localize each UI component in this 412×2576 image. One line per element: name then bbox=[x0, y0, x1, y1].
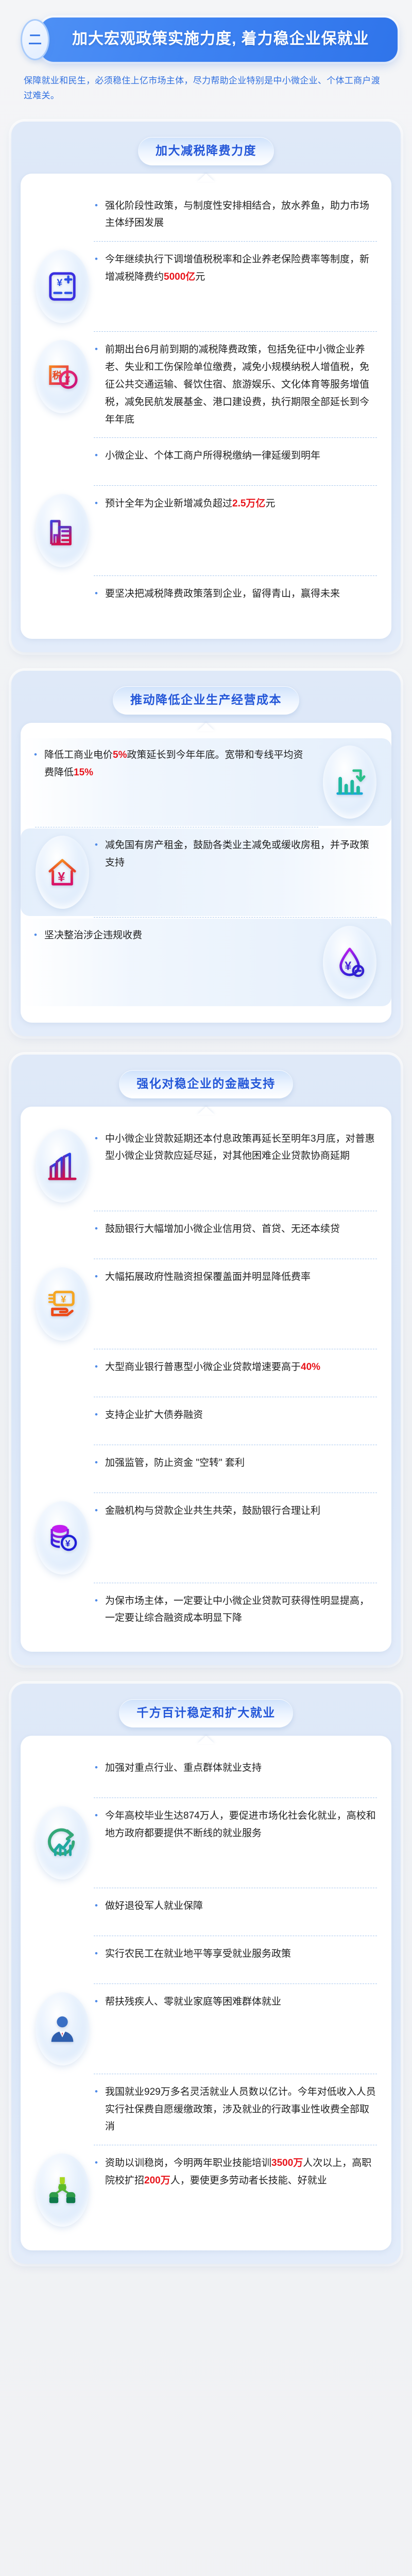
policy-item-text: 降低工商业电价5%政策延长到今年年底。宽带和专线平均资费降低15% bbox=[42, 745, 312, 783]
page-title: 加大宏观政策实施力度, 着力稳企业保就业 bbox=[72, 29, 384, 49]
item-divider bbox=[94, 1936, 377, 1936]
policy-item-text: 做好退役军人就业保障 bbox=[103, 1896, 380, 1916]
item-icon-slot bbox=[32, 1944, 93, 1975]
policy-item: 小微企业、个体工商户所得税缴纳一律延缓到明年 bbox=[32, 439, 380, 484]
item-icon-slot: 税 ¥ bbox=[32, 340, 93, 413]
section-number-badge: 二 bbox=[21, 19, 49, 60]
item-divider bbox=[94, 1984, 377, 1984]
policy-item: 中小微企业贷款延期还本付息政策再延长至明年3月底，对普惠型小微企业贷款应延尽延，… bbox=[32, 1122, 380, 1210]
item-divider bbox=[94, 437, 377, 438]
svg-text:¥: ¥ bbox=[61, 1294, 66, 1304]
item-divider bbox=[94, 575, 377, 576]
item-icon-slot: ¥ bbox=[32, 836, 93, 909]
policy-item-text: 要坚决把减税降费政策落到企业，留得青山，赢得未来 bbox=[103, 584, 380, 604]
item-divider bbox=[94, 1888, 377, 1888]
page-header: 二 加大宏观政策实施力度, 着力稳企业保就业 bbox=[21, 18, 398, 62]
policy-item: ¥ 金融机构与贷款企业共生共荣，鼓励银行合理让利 bbox=[32, 1494, 380, 1582]
item-icon-slot: ¥ bbox=[32, 1267, 93, 1341]
policy-item-text: 我国就业929万多名灵活就业人员数以亿计。今年对低收入人员实行社保费自愿缓缴政策… bbox=[103, 2082, 380, 2137]
section-content-card: 强化阶段性政策，与制度性安排相结合，放水养鱼，助力市场主体纾困发展 ¥ 今年继续… bbox=[21, 174, 391, 639]
policy-item: 做好退役军人就业保障 bbox=[32, 1889, 380, 1935]
item-icon-slot bbox=[32, 1358, 93, 1388]
policy-item-text: 今年继续执行下调增值税税率和企业养老保险费率等制度，新增减税降费约5000亿元 bbox=[103, 250, 380, 287]
policy-item: 帮扶残疾人、零就业家庭等困难群体就业 bbox=[32, 1985, 380, 2073]
sections-container: 加大减税降费力度强化阶段性政策，与制度性安排相结合，放水养鱼，助力市场主体纾困发… bbox=[0, 122, 412, 2264]
item-icon-slot bbox=[32, 584, 93, 615]
policy-section-stabilize-employment: 千方百计稳定和扩大就业加强对重点行业、重点群体就业支持 今年高校毕业生达874万… bbox=[11, 1684, 401, 2264]
item-icon-slot: ¥ bbox=[32, 1501, 93, 1574]
svg-text:¥: ¥ bbox=[65, 375, 71, 385]
policy-item-text: 鼓励银行大幅增加小微企业信用贷、首贷、无还本续贷 bbox=[103, 1219, 380, 1239]
city-buildings-icon bbox=[36, 1129, 89, 1202]
policy-item: ¥ 今年继续执行下调增值税税率和企业养老保险费率等制度，新增减税降费约5000亿… bbox=[32, 243, 380, 330]
item-icon-slot bbox=[32, 1219, 93, 1250]
policy-item-text: 大幅拓展政府性融资担保覆盖面并明显降低费率 bbox=[103, 1267, 380, 1287]
policy-item: 加强监管，防止资金 "空转" 套利 bbox=[32, 1446, 380, 1492]
svg-text:¥: ¥ bbox=[57, 277, 62, 289]
section-title-text: 千方百计稳定和扩大就业 bbox=[136, 1706, 276, 1720]
section-title-pill: 强化对稳企业的金融支持 bbox=[119, 1070, 293, 1098]
item-divider bbox=[94, 1397, 377, 1397]
policy-item-text: 前期出台6月前到期的减税降费政策，包括免征中小微企业养老、失业和工伤保险单位缴费… bbox=[103, 340, 380, 429]
item-icon-slot bbox=[32, 2082, 93, 2113]
bar-chart-down-icon bbox=[323, 745, 376, 819]
droplet-yen-minus-icon: ¥ bbox=[323, 926, 376, 999]
policy-section-financial-support: 强化对稳企业的金融支持 中小微企业贷款延期还本付息政策再延长至明年3月底，对普惠… bbox=[11, 1055, 401, 1665]
policy-item: 要坚决把减税降费政策落到企业，留得青山，赢得未来 bbox=[32, 577, 380, 622]
policy-item: 强化阶段性政策，与制度性安排相结合，放水养鱼，助力市场主体纾困发展 bbox=[32, 189, 380, 241]
svg-text:¥: ¥ bbox=[345, 959, 351, 972]
policy-item-text: 小微企业、个体工商户所得税缴纳一律延缓到明年 bbox=[103, 446, 380, 466]
card-pointer-arrow bbox=[197, 1736, 215, 1744]
policy-item-text: 强化阶段性政策，与制度性安排相结合，放水养鱼，助力市场主体纾困发展 bbox=[103, 196, 380, 233]
card-pointer-arrow bbox=[197, 1107, 215, 1115]
page-subtitle: 保障就业和民生，必须稳住上亿市场主体，尽力帮助企业特别是中小微企业、个体工商户渡… bbox=[24, 73, 383, 103]
policy-item: 为保市场主体，一定要让中小微企业贷款可获得性明显提高，一定要让综合融资成本明显下… bbox=[32, 1584, 380, 1636]
card-pointer-arrow bbox=[197, 723, 215, 731]
item-divider bbox=[35, 827, 318, 827]
item-icon-slot bbox=[32, 1591, 93, 1622]
item-icon-slot bbox=[32, 446, 93, 477]
policy-section-lower-operating-cost: 推动降低企业生产经营成本 降低工商业电价5%政策延长到今年年底。宽带和专线平均资… bbox=[11, 671, 401, 1036]
item-divider bbox=[94, 1493, 377, 1493]
item-divider bbox=[94, 2074, 377, 2074]
section-number-text: 二 bbox=[28, 33, 42, 46]
policy-item: 降低工商业电价5%政策延长到今年年底。宽带和专线平均资费降低15% bbox=[32, 738, 380, 826]
policy-item-text: 加强对重点行业、重点群体就业支持 bbox=[103, 1758, 380, 1778]
policy-item-text: 大型商业银行普惠型小微企业贷款增速要高于40% bbox=[103, 1358, 380, 1377]
item-icon-slot bbox=[32, 196, 93, 227]
item-icon-slot: ¥ bbox=[32, 250, 93, 323]
item-divider bbox=[94, 1349, 377, 1349]
policy-item-text: 实行农民工在就业地平等享受就业服务政策 bbox=[103, 1944, 380, 1964]
section-content-card: 降低工商业电价5%政策延长到今年年底。宽带和专线平均资费降低15% ¥ 减免国有… bbox=[21, 723, 391, 1023]
section-title-text: 强化对稳企业的金融支持 bbox=[136, 1077, 276, 1091]
item-icon-slot bbox=[32, 1758, 93, 1789]
calculator-yen-icon: ¥ bbox=[36, 250, 89, 323]
coins-yen-icon: ¥ bbox=[36, 1501, 89, 1574]
policy-item: 加强对重点行业、重点群体就业支持 bbox=[32, 1751, 380, 1797]
policy-item-text: 中小微企业贷款延期还本付息政策再延长至明年3月底，对普惠型小微企业贷款应延尽延，… bbox=[103, 1129, 380, 1166]
policy-item: ¥ 坚决整治涉企违规收费 bbox=[32, 919, 380, 1006]
section-content-card: 加强对重点行业、重点群体就业支持 今年高校毕业生达874万人，要促进市场化社会化… bbox=[21, 1736, 391, 2250]
header-banner: 加大宏观政策实施力度, 着力稳企业保就业 bbox=[40, 18, 398, 62]
item-icon-slot: ¥ bbox=[319, 926, 380, 999]
item-icon-slot bbox=[32, 1896, 93, 1927]
policy-item: 大型商业银行普惠型小微企业贷款增速要高于40% bbox=[32, 1350, 380, 1396]
item-divider bbox=[94, 241, 377, 242]
item-icon-slot bbox=[32, 1405, 93, 1436]
item-icon-slot bbox=[32, 1806, 93, 1879]
item-divider bbox=[94, 2145, 377, 2145]
item-icon-slot bbox=[32, 1992, 93, 2065]
policy-item: 支持企业扩大债券融资 bbox=[32, 1398, 380, 1444]
policy-item-text: 帮扶残疾人、零就业家庭等困难群体就业 bbox=[103, 1992, 380, 2012]
item-divider bbox=[94, 1211, 377, 1211]
growth-arrow-chart-icon bbox=[36, 1806, 89, 1879]
policy-item-text: 坚决整治涉企违规收费 bbox=[42, 926, 312, 945]
policy-item: 鼓励银行大幅增加小微企业信用贷、首贷、无还本续贷 bbox=[32, 1212, 380, 1258]
building-chart-icon bbox=[36, 494, 89, 567]
worker-person-icon bbox=[36, 1992, 89, 2065]
infographic-page: 二 加大宏观政策实施力度, 着力稳企业保就业 保障就业和民生，必须稳住上亿市场主… bbox=[0, 0, 412, 2576]
policy-item: 资助以训稳岗，今明两年职业技能培训3500万人次以上，高职院校扩招200万人，要… bbox=[32, 2146, 380, 2234]
svg-text:¥: ¥ bbox=[58, 870, 65, 884]
people-network-icon bbox=[36, 2154, 89, 2227]
policy-item: 预计全年为企业新增减负超过2.5万亿元 bbox=[32, 487, 380, 574]
policy-item-text: 减免国有房产租金，鼓励各类业主减免或缓收房租，并予政策支持 bbox=[103, 836, 380, 873]
item-icon-slot bbox=[319, 745, 380, 819]
policy-item-text: 为保市场主体，一定要让中小微企业贷款可获得性明显提高，一定要让综合融资成本明显下… bbox=[103, 1591, 380, 1629]
policy-item: ¥ 大幅拓展政府性融资担保覆盖面并明显降低费率 bbox=[32, 1260, 380, 1348]
item-divider bbox=[94, 1259, 377, 1259]
item-divider bbox=[94, 331, 377, 332]
section-title-text: 加大减税降费力度 bbox=[156, 144, 256, 158]
item-icon-slot bbox=[32, 494, 93, 567]
section-title-pill: 千方百计稳定和扩大就业 bbox=[119, 1699, 293, 1727]
svg-text:¥: ¥ bbox=[65, 1538, 71, 1548]
policy-item-text: 资助以训稳岗，今明两年职业技能培训3500万人次以上，高职院校扩招200万人，要… bbox=[103, 2154, 380, 2191]
policy-item: 税 ¥ 前期出台6月前到期的减税降费政策，包括免征中小微企业养老、失业和工伤保险… bbox=[32, 333, 380, 436]
item-divider bbox=[94, 1445, 377, 1445]
policy-item-text: 预计全年为企业新增减负超过2.5万亿元 bbox=[103, 494, 380, 514]
policy-item: ¥ 减免国有房产租金，鼓励各类业主减免或缓收房租，并予政策支持 bbox=[32, 828, 380, 916]
section-title-pill: 加大减税降费力度 bbox=[138, 137, 274, 165]
section-content-card: 中小微企业贷款延期还本付息政策再延长至明年3月底，对普惠型小微企业贷款应延尽延，… bbox=[21, 1107, 391, 1652]
item-divider bbox=[94, 485, 377, 486]
policy-item: 实行农民工在就业地平等享受就业服务政策 bbox=[32, 1937, 380, 1982]
tax-receipt-yen-icon: 税 ¥ bbox=[36, 340, 89, 413]
policy-item-text: 加强监管，防止资金 "空转" 套利 bbox=[103, 1453, 380, 1473]
item-divider bbox=[94, 1583, 377, 1583]
policy-item-text: 金融机构与贷款企业共生共荣，鼓励银行合理让利 bbox=[103, 1501, 380, 1521]
item-icon-slot bbox=[32, 1453, 93, 1484]
card-pointer-arrow bbox=[197, 174, 215, 182]
policy-item: 今年高校毕业生达874万人，要促进市场化社会化就业，高校和地方政府都要提供不断线… bbox=[32, 1799, 380, 1887]
policy-item-text: 今年高校毕业生达874万人，要促进市场化社会化就业，高校和地方政府都要提供不断线… bbox=[103, 1806, 380, 1843]
item-divider bbox=[94, 1798, 377, 1798]
item-divider bbox=[94, 917, 377, 918]
house-yen-icon: ¥ bbox=[36, 836, 89, 909]
item-icon-slot bbox=[32, 1129, 93, 1202]
section-title-pill: 推动降低企业生产经营成本 bbox=[113, 686, 299, 715]
item-icon-slot bbox=[32, 2154, 93, 2227]
policy-item: 我国就业929万多名灵活就业人员数以亿计。今年对低收入人员实行社保费自愿缓缴政策… bbox=[32, 2075, 380, 2144]
section-title-text: 推动降低企业生产经营成本 bbox=[130, 693, 282, 707]
policy-item-text: 支持企业扩大债券融资 bbox=[103, 1405, 380, 1425]
card-hand-icon: ¥ bbox=[36, 1267, 89, 1341]
policy-section-tax-reduction: 加大减税降费力度强化阶段性政策，与制度性安排相结合，放水养鱼，助力市场主体纾困发… bbox=[11, 122, 401, 652]
